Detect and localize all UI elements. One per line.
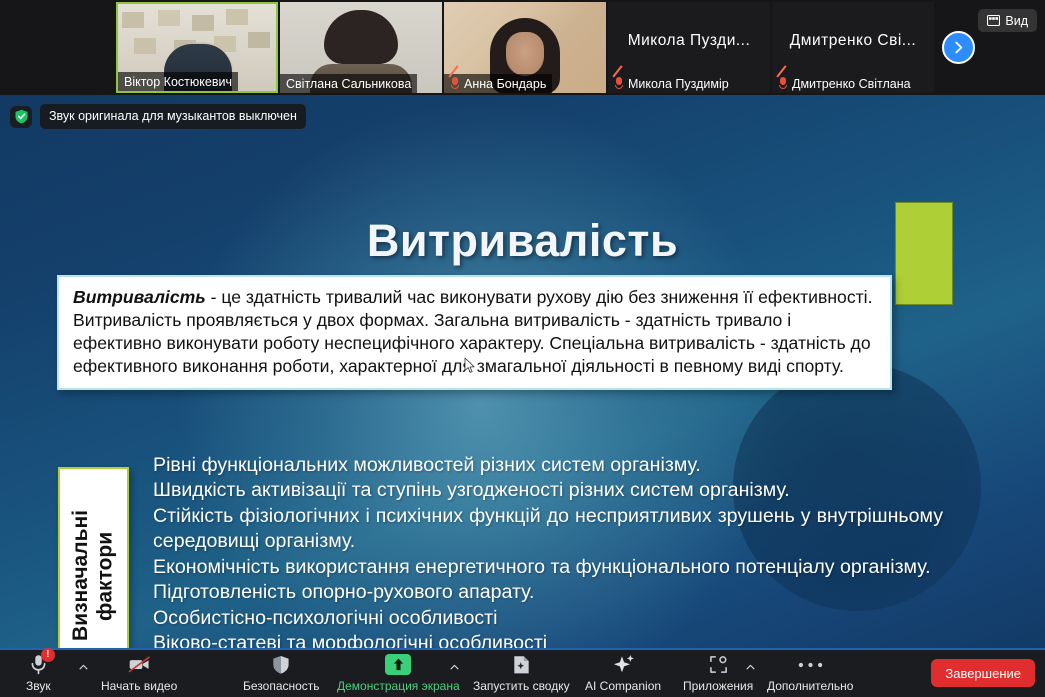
audio-button-label: Звук bbox=[26, 679, 51, 693]
start-summary-button[interactable]: Запустить сводку bbox=[473, 652, 570, 693]
list-item: Швидкість активізації та ступінь узгодже… bbox=[153, 478, 943, 503]
more-button[interactable]: Дополнительно bbox=[767, 652, 853, 693]
list-item: Економічність використання енергетичного… bbox=[153, 555, 943, 580]
mic-muted-icon bbox=[450, 77, 460, 90]
list-item: Стійкість фізіологічних і психічних функ… bbox=[153, 504, 943, 555]
apps-options-caret[interactable] bbox=[743, 660, 757, 674]
ellipsis-icon bbox=[798, 652, 823, 677]
zoom-meeting-window: Віктор Костюкевич Світлана Сальникова Ан… bbox=[0, 0, 1045, 697]
microphone-muted-icon: ! bbox=[29, 652, 48, 677]
view-button-label: Вид bbox=[1005, 14, 1028, 28]
security-button[interactable]: Безопасность bbox=[243, 652, 320, 693]
participant-name-bar: Микола Пуздимір bbox=[608, 74, 735, 93]
mic-muted-icon bbox=[614, 77, 624, 90]
shield-check-badge bbox=[10, 106, 32, 128]
participant-tile[interactable]: Дмитренко Сві... Дмитренко Світлана bbox=[772, 2, 934, 93]
camera-off-icon bbox=[128, 652, 151, 677]
share-screen-button-label: Демонстрация экрана bbox=[337, 679, 460, 693]
side-label-box: Визначальні фактори bbox=[58, 467, 129, 648]
start-video-button[interactable]: Начать видео bbox=[101, 652, 177, 693]
ai-companion-button[interactable]: AI Companion bbox=[585, 652, 661, 693]
more-button-label: Дополнительно bbox=[767, 679, 853, 693]
apps-button-label: Приложения bbox=[683, 679, 753, 693]
security-button-label: Безопасность bbox=[243, 679, 320, 693]
start-summary-button-label: Запустить сводку bbox=[473, 679, 570, 693]
audio-button[interactable]: ! Звук bbox=[26, 652, 51, 693]
participant-tile[interactable]: Анна Бондарь bbox=[444, 2, 606, 93]
share-options-caret[interactable] bbox=[447, 660, 461, 674]
original-sound-banner-text: Звук оригинала для музыкантов выключен bbox=[40, 104, 306, 129]
meeting-toolbar: ! Звук Начать видео bbox=[0, 648, 1045, 697]
participant-name: Віктор Костюкевич bbox=[124, 75, 232, 89]
participant-name-bar: Анна Бондарь bbox=[444, 74, 552, 93]
list-item: Рівні функціональних можливостей різних … bbox=[153, 453, 943, 478]
summary-doc-icon bbox=[513, 652, 530, 677]
end-meeting-button[interactable]: Завершение bbox=[931, 659, 1035, 687]
participant-placeholder-name: Микола Пузди... bbox=[608, 32, 770, 50]
next-participants-button[interactable] bbox=[942, 31, 975, 64]
shared-screen-slide[interactable]: Витривалість Витривалість - це здатність… bbox=[0, 95, 1045, 648]
sparkle-icon bbox=[612, 652, 635, 677]
share-screen-button[interactable]: Демонстрация экрана bbox=[337, 652, 460, 693]
mic-muted-icon bbox=[778, 77, 788, 90]
audio-options-caret[interactable] bbox=[76, 660, 90, 674]
grid-icon bbox=[987, 15, 1000, 26]
participant-name: Анна Бондарь bbox=[464, 77, 546, 91]
start-video-button-label: Начать видео bbox=[101, 679, 177, 693]
share-screen-icon bbox=[385, 652, 411, 677]
participant-name-bar: Віктор Костюкевич bbox=[118, 72, 238, 91]
participant-name-bar: Світлана Сальникова bbox=[280, 74, 417, 93]
definition-term: Витривалість bbox=[73, 287, 206, 307]
chevron-up-icon bbox=[450, 664, 459, 670]
slide-title: Витривалість bbox=[0, 215, 1045, 267]
shield-check-icon bbox=[14, 109, 29, 124]
chevron-up-icon bbox=[746, 664, 755, 670]
participant-name: Світлана Сальникова bbox=[286, 77, 411, 91]
participant-tile[interactable]: Микола Пузди... Микола Пуздимір bbox=[608, 2, 770, 93]
participant-tile[interactable]: Віктор Костюкевич bbox=[116, 2, 278, 93]
audio-alert-badge: ! bbox=[41, 648, 55, 662]
participant-placeholder-name: Дмитренко Сві... bbox=[772, 32, 934, 50]
chevron-right-icon bbox=[952, 41, 965, 54]
ai-companion-button-label: AI Companion bbox=[585, 679, 661, 693]
participant-name: Дмитренко Світлана bbox=[792, 77, 911, 91]
chevron-up-icon bbox=[79, 664, 88, 670]
side-label-text: Визначальні фактори bbox=[69, 469, 118, 648]
participant-filmstrip: Віктор Костюкевич Світлана Сальникова Ан… bbox=[0, 0, 1045, 95]
factors-list: Рівні функціональних можливостей різних … bbox=[153, 453, 943, 648]
participant-tile[interactable]: Світлана Сальникова bbox=[280, 2, 442, 93]
list-item: Віково-статеві та морфологічні особливос… bbox=[153, 631, 943, 648]
participant-name-bar: Дмитренко Світлана bbox=[772, 74, 917, 93]
view-button[interactable]: Вид bbox=[978, 9, 1037, 32]
original-sound-banner: Звук оригинала для музыкантов выключен bbox=[10, 104, 306, 129]
list-item: Підготовленість опорно-рухового апарату. bbox=[153, 580, 943, 605]
apps-icon bbox=[709, 652, 728, 677]
list-item: Особистісно-психологічні особливості bbox=[153, 606, 943, 631]
participant-name: Микола Пуздимір bbox=[628, 77, 729, 91]
shield-icon bbox=[272, 652, 290, 677]
mouse-cursor bbox=[464, 357, 476, 374]
